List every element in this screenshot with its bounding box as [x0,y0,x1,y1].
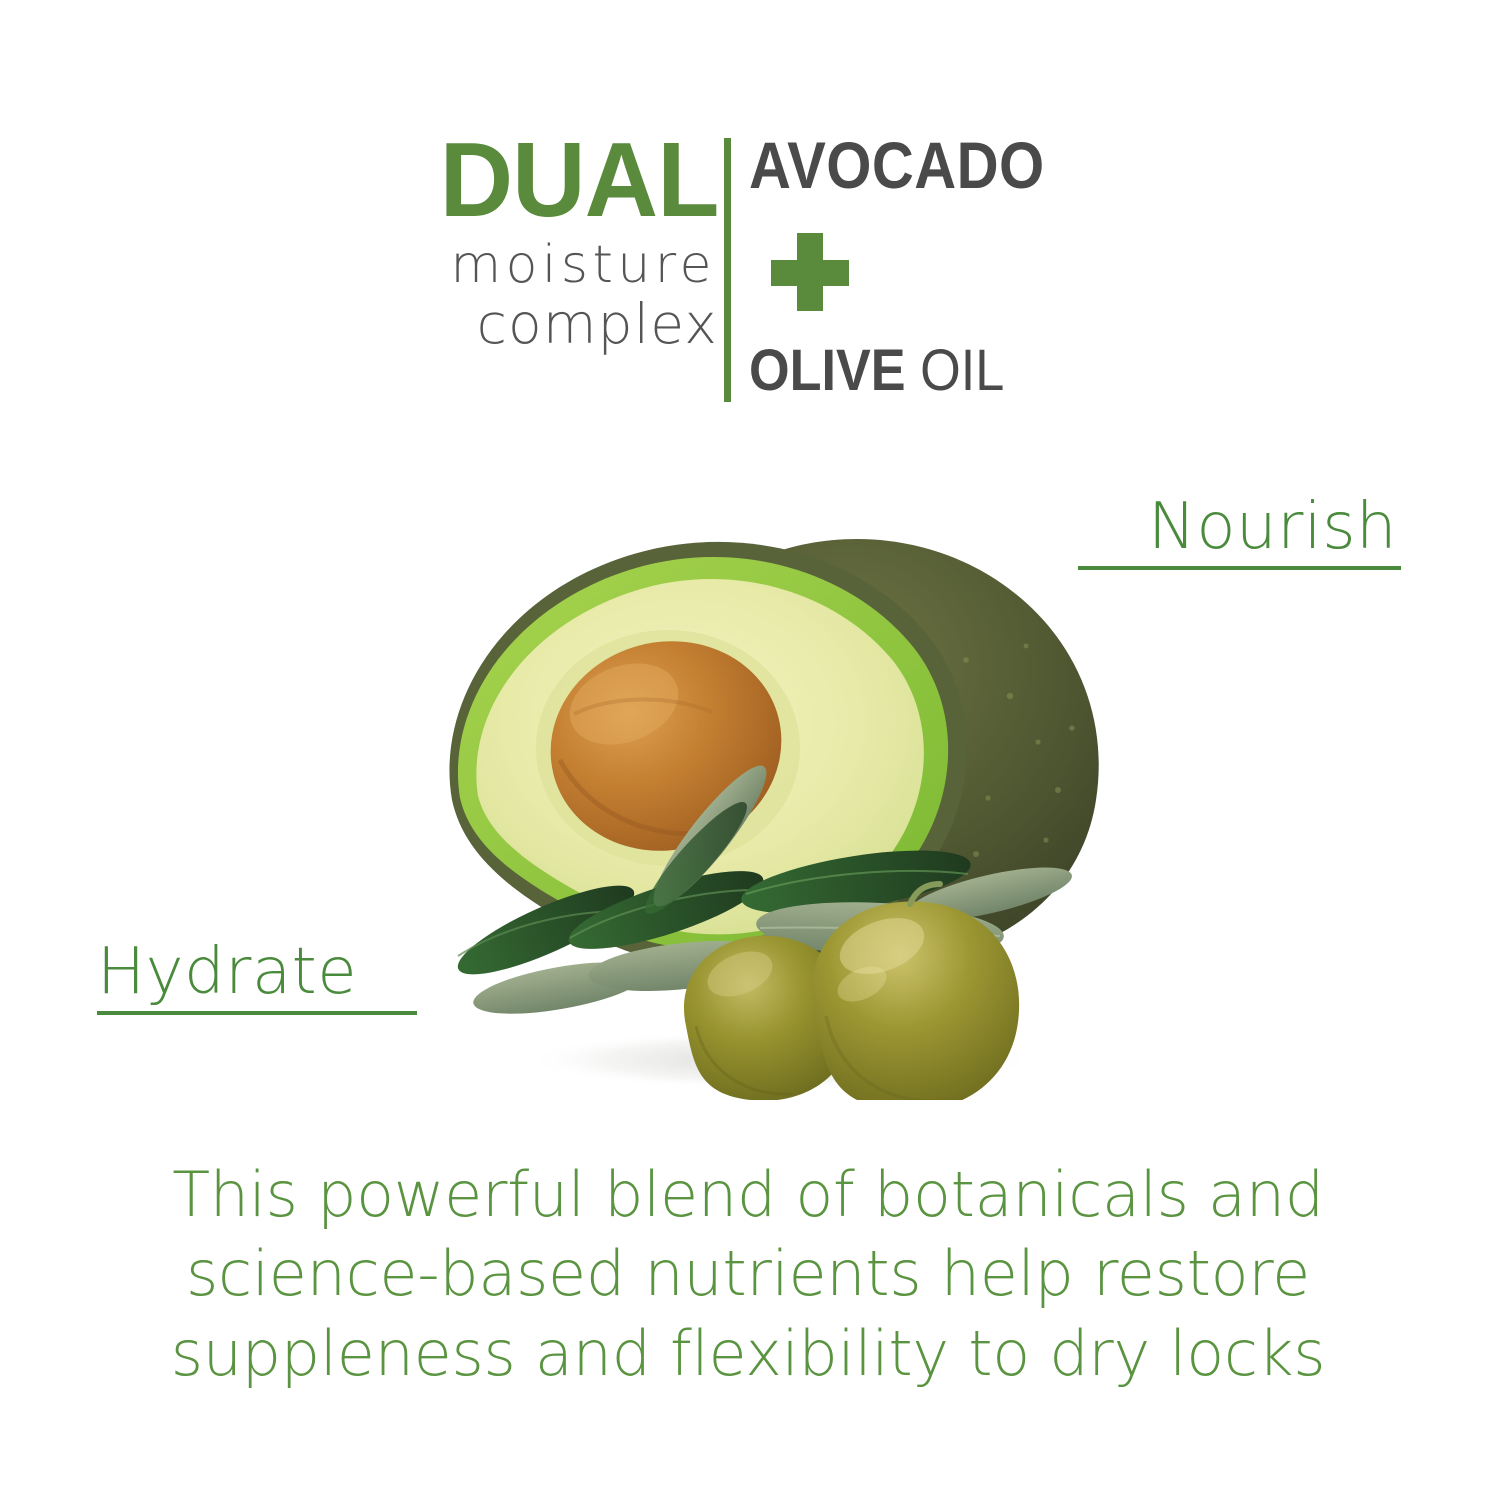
logo-olive-oil-word: OLIVE OIL [749,343,1051,400]
logo-oil-word: OIL [906,338,1005,403]
callout-hydrate-label: Hydrate [97,935,357,1009]
callout-nourish-underline [1078,566,1401,570]
callout-nourish: Nourish [1148,490,1397,564]
logo-right-column: AVOCADO OLIVE OIL [731,132,1085,404]
plus-icon [771,233,849,311]
callout-hydrate: Hydrate [97,935,357,1009]
logo-avocado-word: AVOCADO [749,134,1045,197]
logo-vertical-divider [724,138,731,402]
logo-dual-word: DUAL [439,132,718,230]
logo-complex-word: complex [477,294,718,355]
avocado-olive-photo [410,460,1100,1100]
body-copy: This powerful blend of botanicals and sc… [0,1155,1496,1393]
body-copy-line-3: suppleness and flexibility to dry locks [120,1314,1376,1393]
body-copy-line-1: This powerful blend of botanicals and [120,1155,1376,1234]
callout-hydrate-underline [97,1011,417,1015]
dual-moisture-complex-logo: DUAL moisture complex AVOCADO OLIVE OIL [365,132,1085,404]
callout-nourish-label: Nourish [1148,490,1397,564]
logo-moisture-word: moisture [450,236,718,294]
olive-fruit-front [812,901,1019,1100]
body-copy-line-2: science-based nutrients help restore [120,1234,1376,1313]
plus-icon-vertical-bar [797,233,823,311]
logo-olive-word: OLIVE [749,338,906,403]
logo-left-column: DUAL moisture complex [365,132,724,404]
